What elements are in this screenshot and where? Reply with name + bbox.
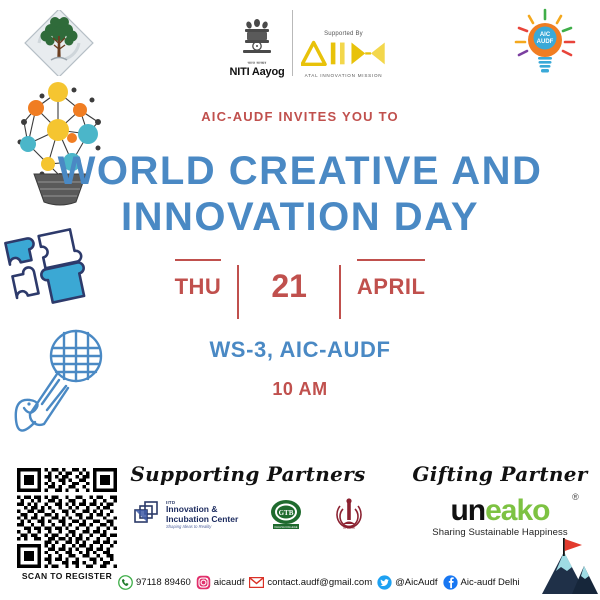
- event-venue: WS-3, AIC-AUDF: [0, 337, 600, 363]
- title-line-2: INNOVATION DAY: [0, 194, 600, 240]
- ashoka-emblem-icon: [240, 17, 274, 61]
- date-day-of-week: THU: [175, 274, 222, 300]
- contact-email-text: contact.audf@gmail.com: [267, 577, 372, 588]
- svg-text:KHALSA COLLEGE: KHALSA COLLEGE: [275, 525, 298, 529]
- logo-divider: [292, 10, 293, 76]
- supporting-partner-logos: IITD Innovation & Incubation Center Shap…: [128, 498, 368, 532]
- uneako-word-part-1: un: [450, 494, 485, 527]
- aim-wordmark-icon: [301, 38, 387, 70]
- gmail-icon: [249, 575, 264, 590]
- uneako-word-part-2: eako: [485, 494, 549, 527]
- aim-subtitle: ATAL INNOVATION MISSION: [299, 73, 388, 78]
- iitd-incubation-logo: IITD Innovation & Incubation Center Shap…: [132, 500, 238, 530]
- event-time: 10 AM: [0, 379, 600, 400]
- date-day-number: 21: [255, 268, 323, 305]
- contact-item-phone[interactable]: 97118 89460: [118, 575, 191, 590]
- maroon-emblem-logo: IIT DELHI: [334, 498, 364, 532]
- contact-item-twitter[interactable]: @AicAudf: [377, 575, 437, 590]
- svg-text:GTB: GTB: [279, 509, 294, 517]
- contact-item-instagram[interactable]: aicaudf: [196, 575, 245, 590]
- event-poster: भारत सरकार NITI Aayog Supported By ATA: [0, 0, 600, 600]
- contact-instagram-text: aicaudf: [214, 577, 245, 588]
- contact-item-facebook[interactable]: Aic-audf Delhi: [443, 575, 520, 590]
- supporting-partners-heading: Supporting Partners: [128, 462, 368, 486]
- niti-aayog-logo: भारत सरकार NITI Aayog Supported By ATA: [228, 6, 388, 78]
- title-line-1: WORLD CREATIVE AND: [0, 148, 600, 194]
- date-month: APRIL: [357, 274, 426, 300]
- iitd-tagline: Shaping Ideas to Reality: [166, 525, 238, 529]
- svg-text:IIT DELHI: IIT DELHI: [343, 527, 355, 530]
- twitter-icon: [377, 575, 392, 590]
- svg-text:AIC: AIC: [540, 32, 551, 38]
- date-month-cell: APRIL: [341, 268, 442, 305]
- aic-audf-bulb-logo: AIC AUDF: [512, 8, 578, 78]
- qr-code-icon[interactable]: [17, 468, 117, 568]
- uneako-logo: uneako ® Sharing Sustainable Happiness: [432, 496, 567, 538]
- facebook-icon: [443, 575, 458, 590]
- date-number-cell: 21: [239, 268, 339, 305]
- date-day-of-week-cell: THU: [159, 268, 238, 305]
- gifting-partner-block: Gifting Partner uneako ® Sharing Sustain…: [404, 462, 596, 540]
- header-logo-bar: भारत सरकार NITI Aayog Supported By ATA: [0, 0, 600, 86]
- qr-label: SCAN TO REGISTER: [12, 571, 122, 581]
- event-date: THU 21 APRIL: [0, 268, 600, 305]
- green-seal-logo: GTB KHALSA COLLEGE: [267, 499, 305, 531]
- supporting-partners-block: Supporting Partners IITD Innovation & In…: [128, 462, 368, 532]
- iitd-main-line-2: Incubation Center: [166, 515, 238, 525]
- invite-line: AIC-AUDF INVITES YOU TO: [0, 109, 600, 124]
- contact-facebook-text: Aic-audf Delhi: [461, 577, 520, 588]
- niti-label: NITI Aayog: [228, 66, 286, 78]
- contact-phone-text: 97118 89460: [136, 577, 191, 588]
- contact-twitter-text: @AicAudf: [395, 577, 437, 588]
- niti-hindi-text: भारत सरकार: [228, 61, 286, 65]
- contact-bar: 97118 89460 aicaudf contact.audf@gmail.c…: [118, 570, 548, 594]
- svg-text:AUDF: AUDF: [537, 39, 554, 45]
- tree-diamond-logo: [24, 10, 94, 76]
- instagram-icon: [196, 575, 211, 590]
- page-title: WORLD CREATIVE AND INNOVATION DAY: [0, 148, 600, 240]
- contact-item-email[interactable]: contact.audf@gmail.com: [249, 575, 372, 590]
- qr-block[interactable]: SCAN TO REGISTER: [12, 468, 122, 581]
- phone-icon: [118, 575, 133, 590]
- iitd-text-block: IITD Innovation & Incubation Center Shap…: [166, 501, 238, 530]
- uneako-wordmark: uneako: [432, 496, 567, 526]
- supported-by-label: Supported By: [299, 31, 388, 37]
- iitd-cubes-icon: [132, 500, 162, 530]
- gifting-partner-heading: Gifting Partner: [404, 462, 596, 486]
- registered-mark-icon: ®: [572, 492, 579, 502]
